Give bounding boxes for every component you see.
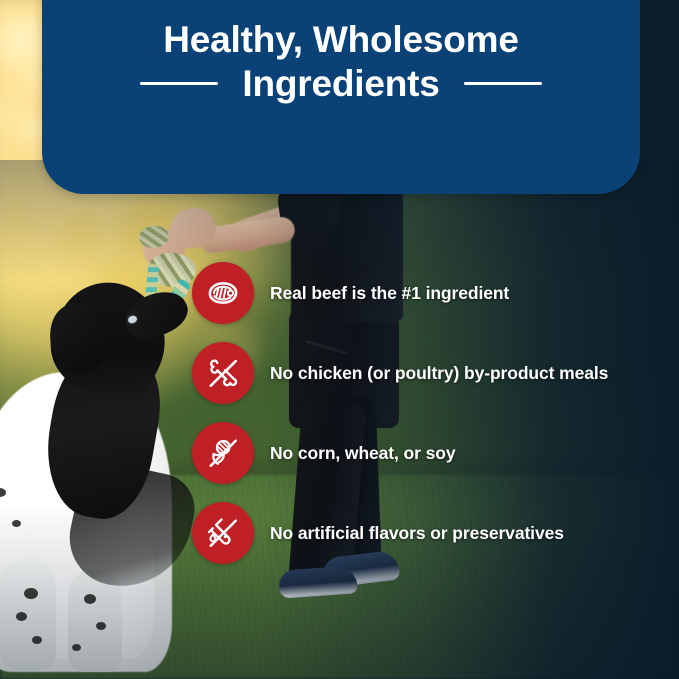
product-feature-graphic: Healthy, Wholesome Ingredients <box>0 0 679 679</box>
no-bone-icon <box>192 342 254 404</box>
title-rule-left <box>140 82 218 85</box>
list-item: No corn, wheat, or soy <box>192 422 672 484</box>
list-item: No artificial flavors or preservatives <box>192 502 672 564</box>
no-test-tube-icon <box>192 502 254 564</box>
title-rule-right <box>464 82 542 85</box>
steak-icon <box>192 262 254 324</box>
list-item-label: No chicken (or poultry) by-product meals <box>270 363 608 384</box>
list-item: No chicken (or poultry) by-product meals <box>192 342 672 404</box>
list-item-label: Real beef is the #1 ingredient <box>270 283 509 304</box>
page-title-row-2: Ingredients <box>42 62 640 106</box>
header-panel: Healthy, Wholesome Ingredients <box>42 0 640 194</box>
page-title-line-1: Healthy, Wholesome <box>163 18 519 62</box>
list-item-label: No artificial flavors or preservatives <box>270 523 564 544</box>
page-title-line-2: Ingredients <box>242 62 439 106</box>
no-grain-icon <box>192 422 254 484</box>
list-item-label: No corn, wheat, or soy <box>270 443 455 464</box>
feature-list: Real beef is the #1 ingredient No chicke… <box>192 262 672 564</box>
list-item: Real beef is the #1 ingredient <box>192 262 672 324</box>
